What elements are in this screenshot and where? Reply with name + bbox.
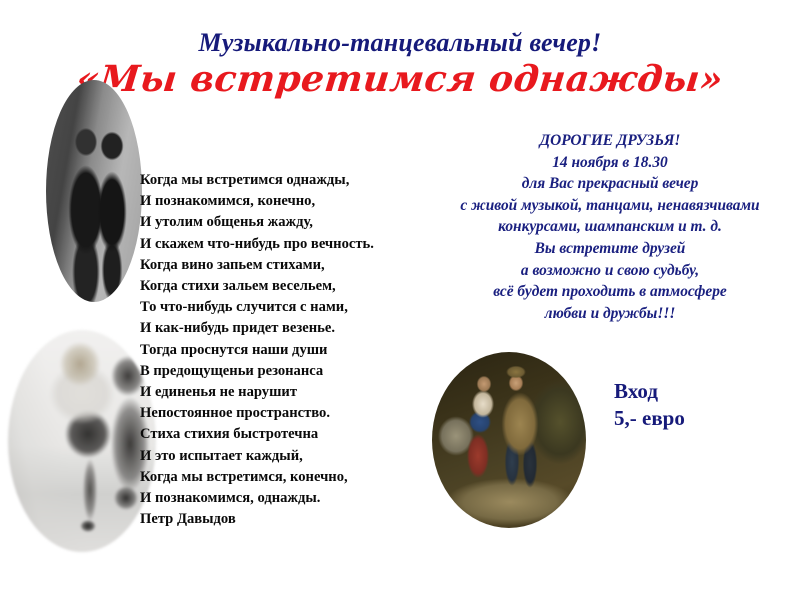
poster-subtitle: «Мы встретимся однажды» bbox=[0, 58, 800, 100]
announcement-line: всё будет проходить в атмосфере bbox=[420, 281, 800, 303]
announcement-line: для Вас прекрасный вечер bbox=[420, 173, 800, 195]
entry-price-block: Вход 5,- евро bbox=[614, 378, 685, 432]
poem-line: Когда мы встретимся, конечно, bbox=[140, 467, 440, 488]
announcement-line: а возможно и свою судьбу, bbox=[420, 260, 800, 282]
entry-amount: 5,- евро bbox=[614, 405, 685, 432]
poem-line: Тогда проснутся наши души bbox=[140, 340, 440, 361]
poem-line: И как-нибудь придет везенье. bbox=[140, 318, 440, 339]
poem-line: И это испытает каждый, bbox=[140, 446, 440, 467]
poem-line: И утолим общенья жажду, bbox=[140, 212, 440, 233]
announcement-line: ДОРОГИЕ ДРУЗЬЯ! bbox=[420, 130, 800, 152]
poster-title: Музыкально-танцевальный вечер! bbox=[0, 28, 800, 58]
announcement-line: Вы встретите друзей bbox=[420, 238, 800, 260]
announcement-line: конкурсами, шампанским и т. д. bbox=[420, 216, 800, 238]
poem-line: И скажем что-нибудь про вечность. bbox=[140, 234, 440, 255]
entry-label: Вход bbox=[614, 378, 685, 405]
announcement-line: с живой музыкой, танцами, ненавязчивами bbox=[420, 195, 800, 217]
announcement-line: любви и дружбы!!! bbox=[420, 303, 800, 325]
dancers-photo bbox=[8, 330, 156, 552]
poem-line: В предощущеньи резонанса bbox=[140, 361, 440, 382]
poem-line: Когда мы встретимся однажды, bbox=[140, 170, 440, 191]
poem-line: Когда стихи зальем весельем, bbox=[140, 276, 440, 297]
poem-line: То что-нибудь случится с нами, bbox=[140, 297, 440, 318]
poem-line: И познакомимся, конечно, bbox=[140, 191, 440, 212]
poem-line: И познакомимся, однажды. bbox=[140, 488, 440, 509]
poem-author: Петр Давыдов bbox=[140, 509, 440, 530]
announcement-line: 14 ноября в 18.30 bbox=[420, 152, 800, 174]
poster-canvas: Музыкально-танцевальный вечер! «Мы встре… bbox=[0, 0, 800, 600]
poem-line: Стиха стихия быстротечна bbox=[140, 424, 440, 445]
couple-photo bbox=[46, 80, 142, 302]
courtship-painting bbox=[432, 352, 586, 528]
poem-line: И единенья не нарушит bbox=[140, 382, 440, 403]
poem-line: Когда вино запьем стихами, bbox=[140, 255, 440, 276]
poem-block: Когда мы встретимся однажды, И познакоми… bbox=[140, 170, 440, 530]
announcement-block: ДОРОГИЕ ДРУЗЬЯ! 14 ноября в 18.30 для Ва… bbox=[420, 130, 800, 324]
poem-line: Непостоянное пространство. bbox=[140, 403, 440, 424]
